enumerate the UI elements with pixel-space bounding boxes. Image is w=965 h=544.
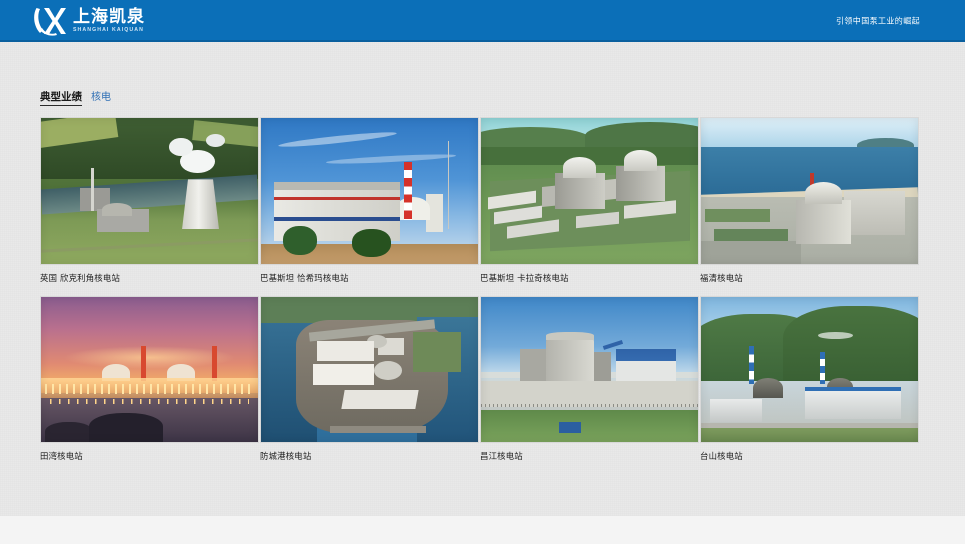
- project-photo[interactable]: [260, 296, 479, 443]
- project-caption: 防城港核电站: [260, 450, 480, 462]
- photo-scene-taishan: [701, 297, 918, 442]
- gallery-item[interactable]: 福清核电站: [700, 117, 920, 284]
- project-gallery-grid: 英国 欣克利角核电站 巴基斯坦 恰希玛核电站: [40, 117, 925, 462]
- project-caption: 巴基斯坦 卡拉奇核电站: [480, 272, 700, 284]
- project-caption: 田湾核电站: [40, 450, 260, 462]
- project-photo[interactable]: [700, 296, 919, 443]
- project-photo[interactable]: [260, 117, 479, 265]
- photo-scene-karachi: [481, 118, 698, 264]
- brand-name-cn: 上海凯泉: [73, 9, 145, 26]
- gallery-item[interactable]: 巴基斯坦 卡拉奇核电站: [480, 117, 700, 284]
- brand-name-en: SHANGHAI KAIQUAN: [73, 28, 145, 33]
- photo-scene-fangchenggang: [261, 297, 478, 442]
- gallery-item[interactable]: 巴基斯坦 恰希玛核电站: [260, 117, 480, 284]
- project-caption: 英国 欣克利角核电站: [40, 272, 260, 284]
- brand-wordmark: 上海凯泉 SHANGHAI KAIQUAN: [73, 9, 145, 33]
- photo-scene-chashma: [261, 118, 478, 264]
- project-photo[interactable]: [480, 117, 699, 265]
- project-caption: 福清核电站: [700, 272, 920, 284]
- project-photo[interactable]: [40, 296, 259, 443]
- photo-scene-tianwan: [41, 297, 258, 442]
- project-caption: 巴基斯坦 恰希玛核电站: [260, 272, 480, 284]
- project-caption: 台山核电站: [700, 450, 920, 462]
- brand-logo[interactable]: 上海凯泉 SHANGHAI KAIQUAN: [33, 6, 145, 36]
- project-photo[interactable]: [700, 117, 919, 265]
- project-photo[interactable]: [480, 296, 699, 443]
- gallery-item[interactable]: 台山核电站: [700, 296, 920, 462]
- gallery-item[interactable]: 防城港核电站: [260, 296, 480, 462]
- photo-scene-changjiang: [481, 297, 698, 442]
- gallery-item[interactable]: 昌江核电站: [480, 296, 700, 462]
- section-title: 典型业绩: [40, 89, 82, 106]
- project-photo[interactable]: [40, 117, 259, 265]
- page-header: 上海凯泉 SHANGHAI KAIQUAN 引领中国泵工业的崛起: [0, 0, 965, 42]
- gallery-item[interactable]: 田湾核电站: [40, 296, 260, 462]
- photo-scene-fuqing: [701, 118, 918, 264]
- kaiquan-k-mark-icon: [33, 6, 67, 36]
- header-tagline: 引领中国泵工业的崛起: [836, 16, 920, 27]
- gallery-item[interactable]: 英国 欣克利角核电站: [40, 117, 260, 284]
- content-area: 典型业绩 核电 英国 欣克利角核电站: [0, 42, 965, 544]
- project-caption: 昌江核电站: [480, 450, 700, 462]
- section-subtitle[interactable]: 核电: [91, 88, 111, 103]
- section-header: 典型业绩 核电: [40, 88, 965, 106]
- photo-scene-hinkley: [41, 118, 258, 264]
